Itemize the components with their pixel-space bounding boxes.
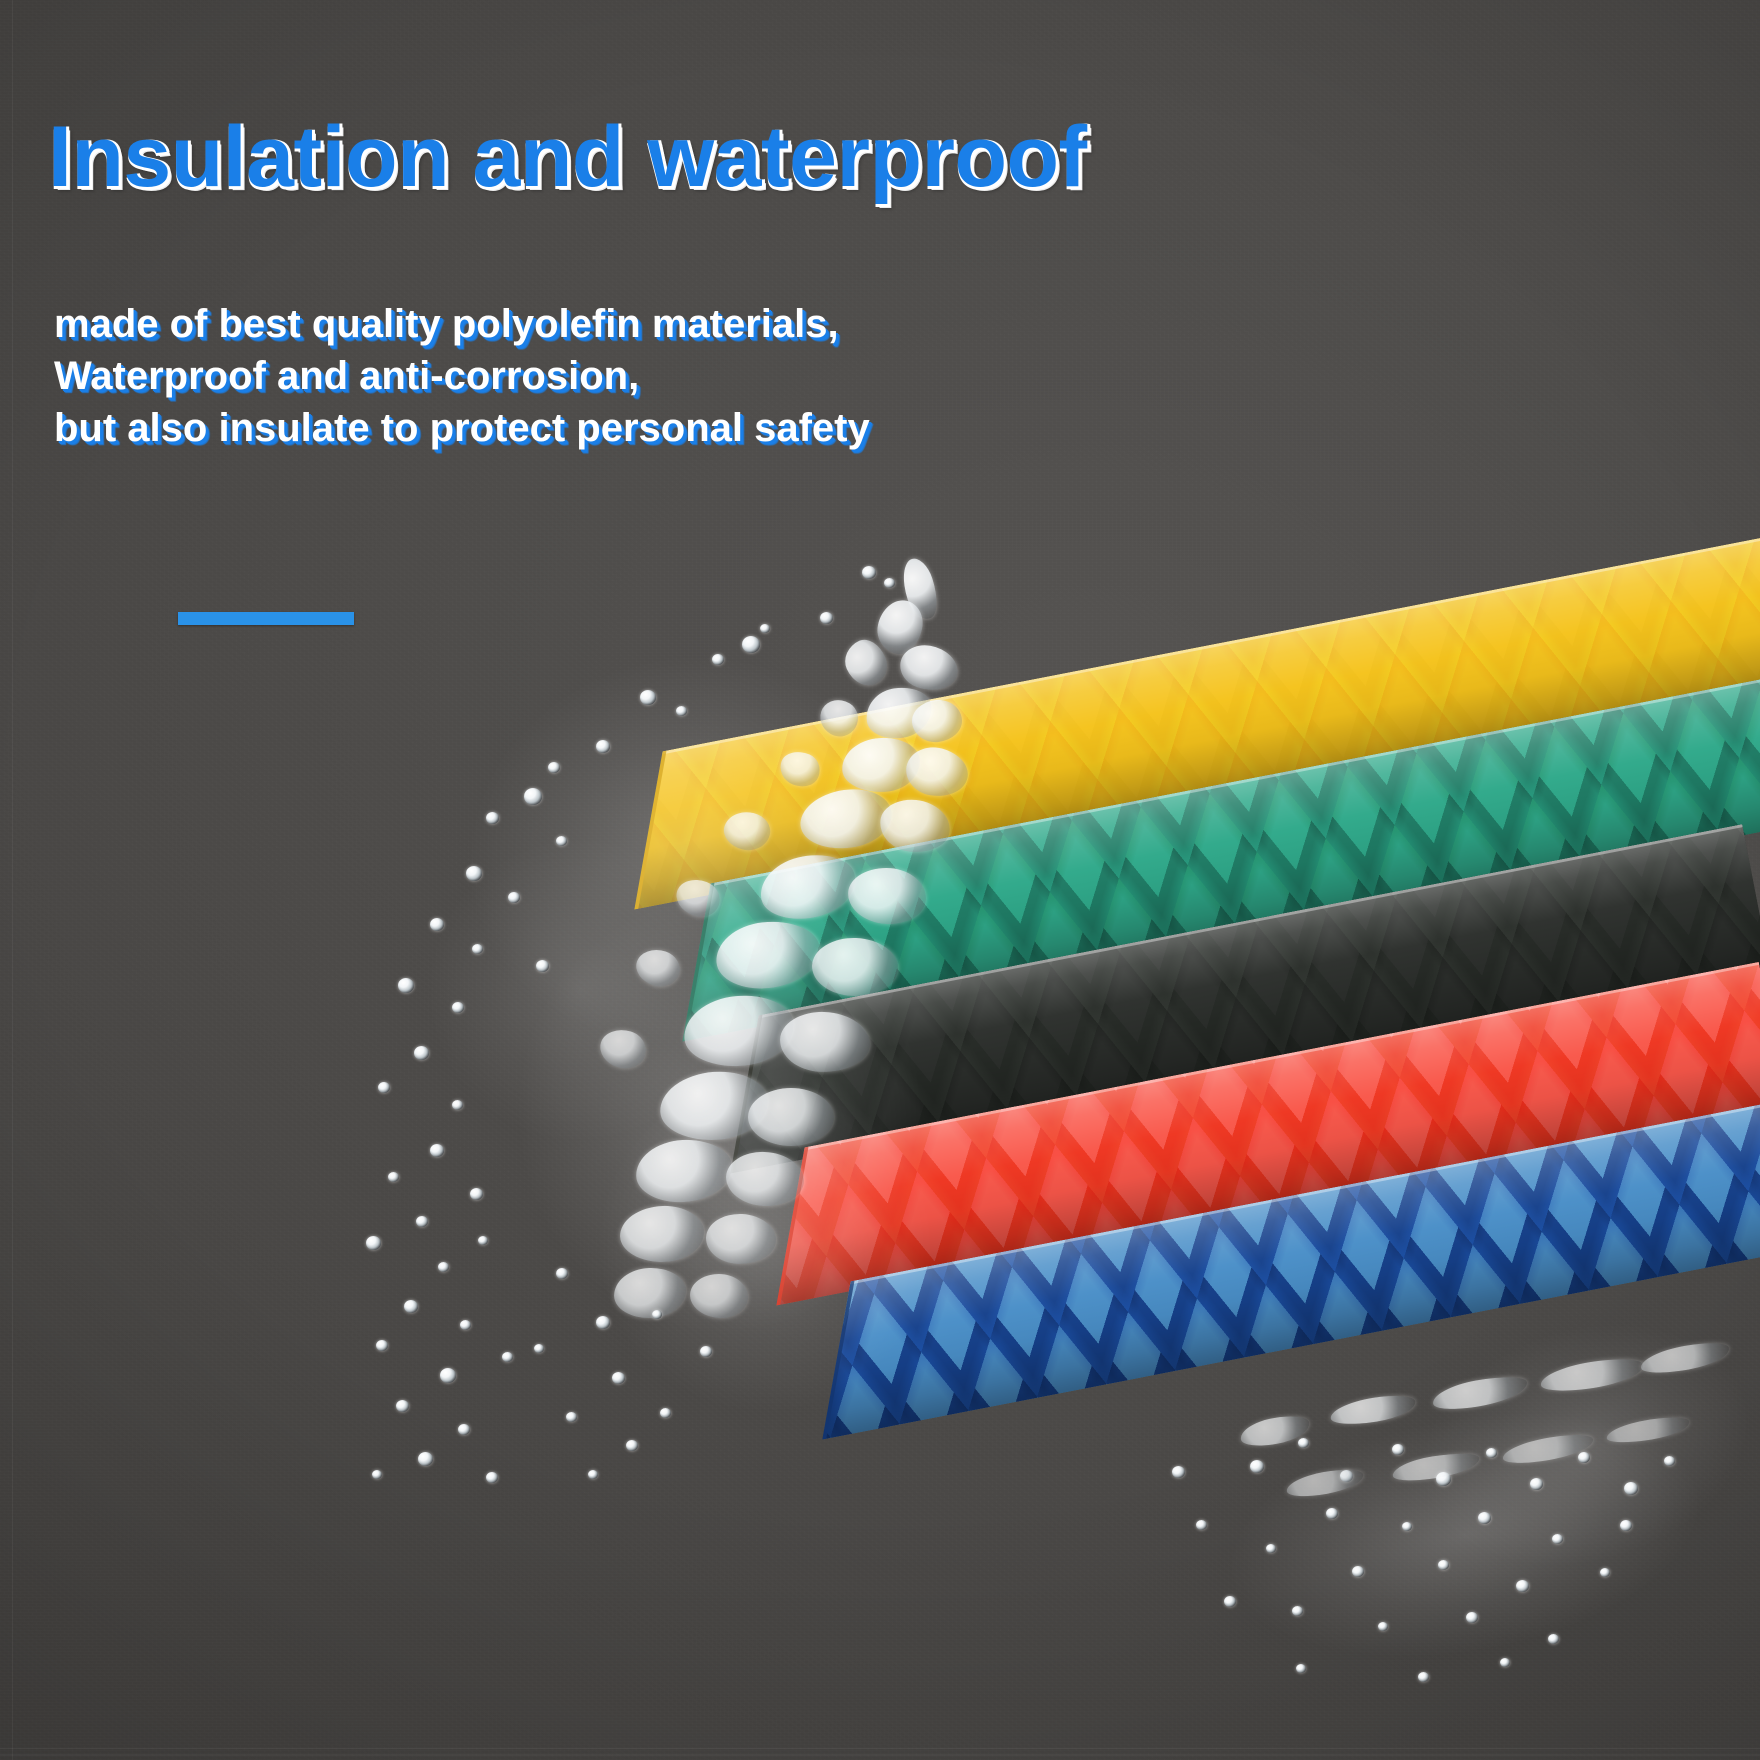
description-line-3: but also insulate to protect personal sa… — [54, 402, 870, 454]
description-line-2: Waterproof and anti-corrosion, — [54, 350, 870, 402]
description-text: made of best quality polyolefin material… — [54, 298, 870, 454]
left-edge-line — [12, 0, 13, 1760]
product-banner: Insulation and waterproof made of best q… — [0, 0, 1760, 1760]
description-line-1: made of best quality polyolefin material… — [54, 298, 870, 350]
accent-divider — [178, 612, 354, 625]
bottom-edge-line-secondary — [0, 1754, 1760, 1756]
background-vignette — [0, 0, 1760, 1760]
bottom-edge-line — [0, 1748, 1760, 1749]
page-title: Insulation and waterproof — [48, 108, 1087, 207]
